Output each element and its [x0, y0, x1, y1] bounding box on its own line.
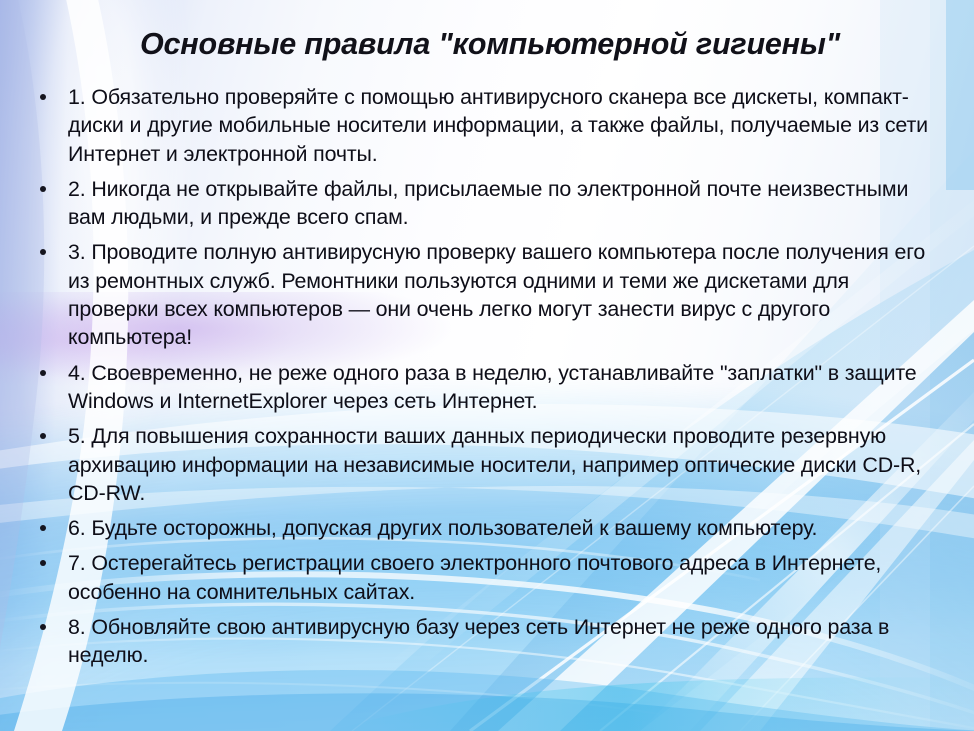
list-item: 7. Остерегайтесь регистрации своего элек…: [34, 549, 940, 606]
list-item-text: 4. Своевременно, не реже одного раза в н…: [68, 359, 940, 416]
presentation-slide: Основные правила "компьютерной гигиены" …: [0, 0, 974, 731]
bullet-dot-icon: [40, 560, 46, 566]
list-item: 1. Обязательно проверяйте с помощью анти…: [34, 83, 940, 168]
list-item-text: 5. Для повышения сохранности ваших данны…: [68, 422, 940, 507]
bullet-dot-icon: [40, 433, 46, 439]
list-item-text: 3. Проводите полную антивирусную проверк…: [68, 238, 940, 351]
page-title: Основные правила "компьютерной гигиены": [60, 27, 920, 62]
slide-content: Основные правила "компьютерной гигиены" …: [0, 0, 974, 731]
bullet-dot-icon: [40, 624, 46, 630]
bullet-dot-icon: [40, 94, 46, 100]
list-item: 2. Никогда не открывайте файлы, присылае…: [34, 175, 940, 232]
list-item: 4. Своевременно, не реже одного раза в н…: [34, 359, 940, 416]
bullet-list: 1. Обязательно проверяйте с помощью анти…: [34, 83, 940, 677]
list-item: 3. Проводите полную антивирусную проверк…: [34, 238, 940, 351]
list-item: 5. Для повышения сохранности ваших данны…: [34, 422, 940, 507]
bullet-dot-icon: [40, 370, 46, 376]
bullet-dot-icon: [40, 249, 46, 255]
bullet-dot-icon: [40, 525, 46, 531]
bullet-dot-icon: [40, 186, 46, 192]
list-item-text: 7. Остерегайтесь регистрации своего элек…: [68, 549, 940, 606]
list-item: 6. Будьте осторожны, допуская других пол…: [34, 514, 940, 542]
list-item-text: 8. Обновляйте свою антивирусную базу чер…: [68, 613, 940, 670]
list-item: 8. Обновляйте свою антивирусную базу чер…: [34, 613, 940, 670]
list-item-text: 6. Будьте осторожны, допуская других пол…: [68, 514, 940, 542]
list-item-text: 1. Обязательно проверяйте с помощью анти…: [68, 83, 940, 168]
list-item-text: 2. Никогда не открывайте файлы, присылае…: [68, 175, 940, 232]
